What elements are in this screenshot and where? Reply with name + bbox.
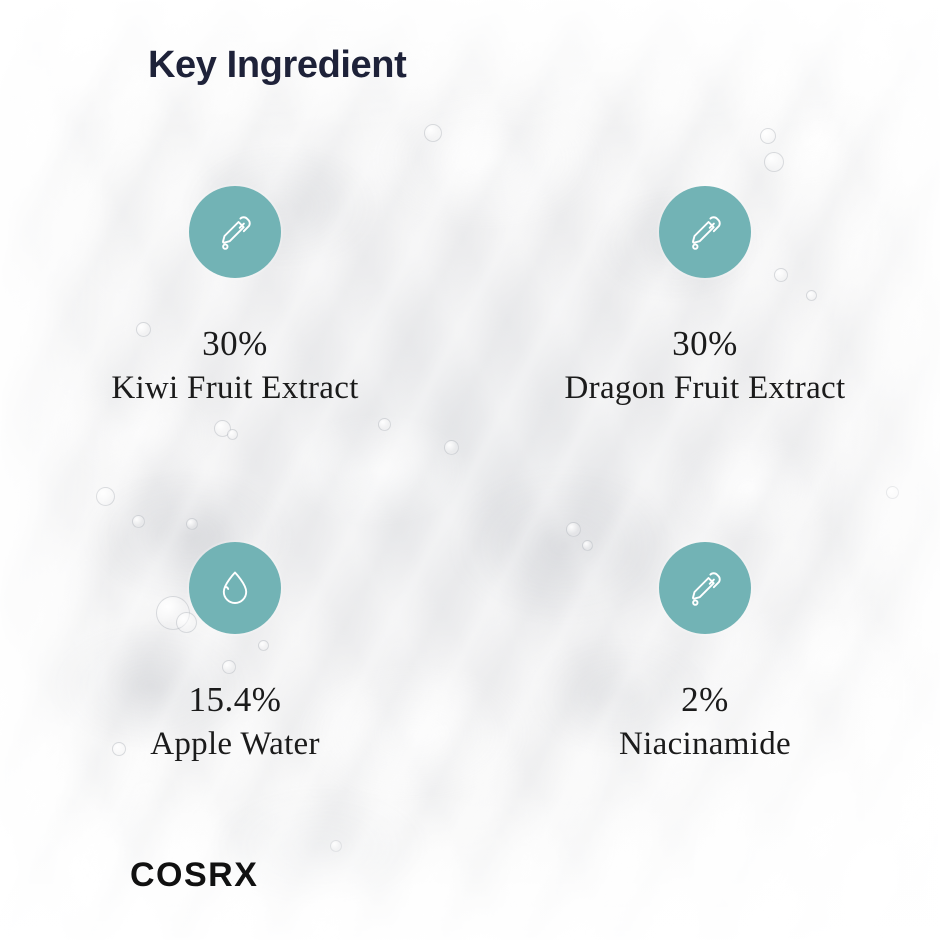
ingredient-name: Apple Water [150, 728, 320, 761]
ingredient-item-kiwi-fruit-extract: 30% Kiwi Fruit Extract [0, 186, 470, 405]
brand-logo: COSRX [130, 856, 258, 895]
ingredient-percent: 30% [672, 326, 738, 361]
ingredient-name: Dragon Fruit Extract [565, 372, 846, 405]
ingredient-percent: 15.4% [189, 682, 282, 717]
ingredient-grid: 30% Kiwi Fruit Extract 30% Dragon F [0, 186, 940, 761]
ingredient-percent: 30% [202, 326, 268, 361]
ingredient-percent: 2% [681, 682, 729, 717]
dropper-icon [210, 207, 260, 257]
ingredient-icon-badge [189, 542, 281, 634]
dropper-icon [680, 563, 730, 613]
ingredient-item-dragon-fruit-extract: 30% Dragon Fruit Extract [470, 186, 940, 405]
water-drop-icon [212, 565, 258, 611]
key-ingredient-poster: Key Ingredient 30% Kiwi Fruit Extract [0, 0, 940, 940]
page-title: Key Ingredient [148, 44, 406, 87]
dropper-icon [680, 207, 730, 257]
ingredient-item-niacinamide: 2% Niacinamide [470, 542, 940, 761]
ingredient-row: 30% Kiwi Fruit Extract 30% Dragon F [0, 186, 940, 405]
ingredient-icon-badge [189, 186, 281, 278]
ingredient-row: 15.4% Apple Water 2% Niacinamide [0, 542, 940, 761]
ingredient-name: Niacinamide [619, 728, 791, 761]
ingredient-name: Kiwi Fruit Extract [111, 372, 358, 405]
ingredient-icon-badge [659, 186, 751, 278]
ingredient-item-apple-water: 15.4% Apple Water [0, 542, 470, 761]
ingredient-icon-badge [659, 542, 751, 634]
